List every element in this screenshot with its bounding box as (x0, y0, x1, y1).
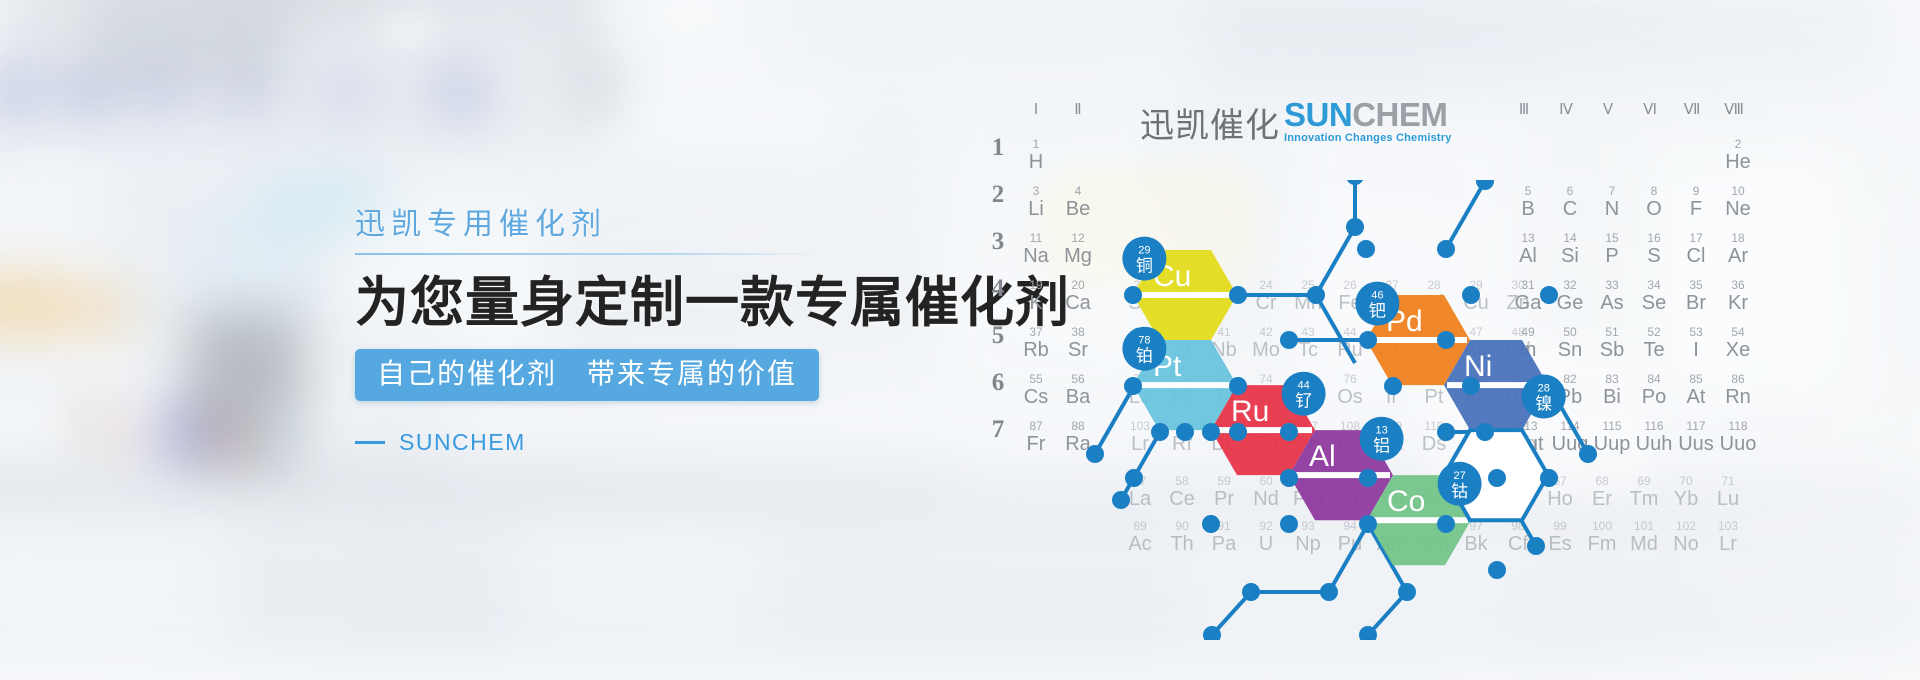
network-node[interactable] (1527, 537, 1545, 555)
logo-word-chem: CHEM (1352, 96, 1447, 133)
periodic-cell: 87Fr (1015, 420, 1057, 455)
element-symbol: F (1675, 198, 1717, 220)
periodic-cell: 36Kr (1717, 279, 1759, 314)
period-label: 7 (987, 416, 1009, 444)
network-node[interactable] (1437, 240, 1455, 258)
element-number: 69 (1623, 475, 1665, 488)
element-number: 85 (1675, 373, 1717, 386)
periodic-cell: 10Ne (1717, 185, 1759, 220)
periodic-cell: 34Se (1633, 279, 1675, 314)
hero-banner: 迅凯专用催化剂 为您量身定制一款专属催化剂 自己的催化剂 带来专属的价值 SUN… (0, 0, 1920, 680)
periodic-cell: 16S (1633, 232, 1675, 267)
element-number: 17 (1675, 232, 1717, 245)
tagline-wrapper: 自己的催化剂 带来专属的价值 (355, 349, 995, 401)
element-number: 86 (1717, 373, 1759, 386)
periodic-cell: 17Cl (1675, 232, 1717, 267)
periodic-cell: 2He (1717, 138, 1759, 173)
badge-number: 46 (1371, 290, 1383, 302)
element-symbol: Tm (1623, 488, 1665, 510)
tagline-badge: 自己的催化剂 带来专属的价值 (355, 349, 819, 401)
network-node[interactable] (1540, 286, 1558, 304)
network-node[interactable] (1488, 561, 1506, 579)
dash-icon (355, 441, 385, 444)
hero-eyebrow: 迅凯专用催化剂 (355, 205, 995, 253)
network-node[interactable] (1320, 583, 1338, 601)
period-label: 3 (987, 228, 1009, 256)
element-number: 54 (1717, 326, 1759, 339)
signature-label: SUNCHEM (399, 429, 526, 456)
period-label: 5 (987, 322, 1009, 350)
element-badge-ru[interactable]: 44钌 (1282, 372, 1326, 416)
periodic-cell: 116Uuh (1633, 420, 1675, 455)
element-symbol: Li (1015, 198, 1057, 220)
element-badge-pd[interactable]: 46钯 (1355, 282, 1399, 326)
network-node[interactable] (1476, 423, 1494, 441)
element-symbol: Ne (1717, 198, 1759, 220)
badge-chinese: 铂 (1136, 347, 1153, 367)
network-link (1212, 592, 1329, 635)
periodic-cell: 55Cs (1015, 373, 1057, 408)
badge-chinese: 镍 (1535, 395, 1552, 415)
element-symbol: I (1675, 339, 1717, 361)
element-number: 10 (1717, 185, 1759, 198)
signature: SUNCHEM (355, 429, 995, 456)
network-node[interactable] (1229, 286, 1247, 304)
element-number: 117 (1675, 420, 1717, 433)
badge-number: 13 (1375, 425, 1387, 437)
network-node[interactable] (1462, 286, 1480, 304)
network-node[interactable] (1280, 469, 1298, 487)
element-symbol: No (1665, 533, 1707, 555)
network-node[interactable] (1359, 331, 1377, 349)
logo-latin-lockup: SUNCHEM Innovation Changes Chemistry (1284, 98, 1452, 144)
network-node[interactable] (1346, 180, 1364, 185)
network-node[interactable] (1176, 423, 1194, 441)
group-label: Ⅰ (1019, 100, 1053, 119)
network-link (1095, 386, 1134, 454)
network-node[interactable] (1124, 286, 1142, 304)
network-link (1238, 180, 1355, 295)
element-symbol: Md (1623, 533, 1665, 555)
hexagon-network: CuPtRuPdNiAlCo 29铜78铂44钌46钯28镍13铝27钴 (1080, 180, 1600, 640)
periodic-cell: 19K (1015, 279, 1057, 314)
element-badge-ni[interactable]: 28镍 (1522, 375, 1566, 419)
network-link (1121, 432, 1160, 500)
network-node[interactable] (1398, 583, 1416, 601)
element-symbol: O (1633, 198, 1675, 220)
network-node[interactable] (1112, 491, 1130, 509)
element-number: 116 (1633, 420, 1675, 433)
element-number: 55 (1015, 373, 1057, 386)
badge-number: 29 (1138, 245, 1150, 257)
badge-chinese: 钯 (1369, 302, 1386, 322)
element-number: 101 (1623, 520, 1665, 533)
badge-number: 78 (1138, 335, 1150, 347)
periodic-cell: 71Lu (1707, 475, 1749, 510)
element-number: 9 (1675, 185, 1717, 198)
periodic-cell: 84Po (1633, 373, 1675, 408)
element-number: 34 (1633, 279, 1675, 292)
periodic-cell: 118Uuo (1717, 420, 1759, 455)
element-badge-cu[interactable]: 29铜 (1122, 237, 1166, 281)
periodic-cell: 9F (1675, 185, 1717, 220)
periodic-cell: 53I (1675, 326, 1717, 361)
periodic-cell: 86Rn (1717, 373, 1759, 408)
network-node[interactable] (1229, 423, 1247, 441)
element-badge-al[interactable]: 13铝 (1360, 417, 1404, 461)
element-symbol: Lu (1707, 488, 1749, 510)
network-node[interactable] (1359, 515, 1377, 533)
element-symbol: Kr (1717, 292, 1759, 314)
periodic-cell: 85At (1675, 373, 1717, 408)
periodic-cell: 1H (1015, 138, 1057, 173)
network-link (1329, 524, 1368, 592)
element-symbol: Br (1675, 292, 1717, 314)
hexagon-symbol: Al (1309, 440, 1336, 473)
element-number: 11 (1015, 232, 1057, 245)
periodic-cell: 52Te (1633, 326, 1675, 361)
element-number: 8 (1633, 185, 1675, 198)
element-symbol: Cs (1015, 386, 1057, 408)
periodic-cell: 70Yb (1665, 475, 1707, 510)
hexagon-symbol: Co (1387, 485, 1425, 518)
hexagon-divider (1136, 382, 1234, 388)
period-label: 6 (987, 369, 1009, 397)
element-number: 103 (1707, 520, 1749, 533)
element-symbol: Lr (1707, 533, 1749, 555)
network-node[interactable] (1280, 515, 1298, 533)
network-node[interactable] (1280, 331, 1298, 349)
badge-number: 28 (1538, 383, 1550, 395)
group-label: Ⅵ (1633, 100, 1667, 119)
network-node[interactable] (1359, 469, 1377, 487)
network-node[interactable] (1086, 445, 1104, 463)
element-symbol: Te (1633, 339, 1675, 361)
group-label: Ⅷ (1717, 100, 1751, 119)
group-label: Ⅲ (1507, 100, 1541, 119)
element-symbol: Cl (1675, 245, 1717, 267)
network-node[interactable] (1540, 469, 1558, 487)
element-symbol: Ar (1717, 245, 1759, 267)
network-node[interactable] (1202, 515, 1220, 533)
periodic-cell: 8O (1633, 185, 1675, 220)
element-number: 70 (1665, 475, 1707, 488)
element-number: 102 (1665, 520, 1707, 533)
element-number: 84 (1633, 373, 1675, 386)
network-node[interactable] (1151, 423, 1169, 441)
network-hexagons: CuPtRuPdNiAlCo (1133, 250, 1548, 565)
network-node[interactable] (1437, 331, 1455, 349)
element-symbol: Se (1633, 292, 1675, 314)
badge-chinese: 铜 (1136, 257, 1153, 277)
periodic-cell: 18Ar (1717, 232, 1759, 267)
page-title: 为您量身定制一款专属催化剂 (355, 271, 995, 335)
element-symbol: Rn (1717, 386, 1759, 408)
element-symbol: Uuo (1717, 433, 1759, 455)
period-label: 2 (987, 181, 1009, 209)
badge-chinese: 钴 (1451, 482, 1468, 502)
eyebrow-underline (355, 253, 821, 255)
element-symbol: S (1633, 245, 1675, 267)
network-node[interactable] (1229, 377, 1247, 395)
periodic-cell: 37Rb (1015, 326, 1057, 361)
network-node[interactable] (1124, 377, 1142, 395)
group-label: Ⅶ (1675, 100, 1709, 119)
element-symbol: He (1717, 151, 1759, 173)
element-number: 53 (1675, 326, 1717, 339)
element-symbol: Uuh (1633, 433, 1675, 455)
element-number: 3 (1015, 185, 1057, 198)
network-node[interactable] (1307, 286, 1325, 304)
badge-chinese: 铝 (1373, 437, 1390, 457)
group-label: Ⅴ (1591, 100, 1625, 119)
hero-copy: 迅凯专用催化剂 为您量身定制一款专属催化剂 自己的催化剂 带来专属的价值 SUN… (355, 205, 995, 456)
group-label: Ⅳ (1549, 100, 1583, 119)
network-node[interactable] (1384, 377, 1402, 395)
element-number: 37 (1015, 326, 1057, 339)
period-label: 1 (987, 134, 1009, 162)
period-label: 4 (987, 275, 1009, 303)
element-number: 16 (1633, 232, 1675, 245)
element-number: 19 (1015, 279, 1057, 292)
periodic-cell: 54Xe (1717, 326, 1759, 361)
network-node[interactable] (1202, 423, 1220, 441)
periodic-cell: 101Md (1623, 520, 1665, 555)
periodic-cell: 102No (1665, 520, 1707, 555)
element-number: 36 (1717, 279, 1759, 292)
element-symbol: H (1015, 151, 1057, 173)
element-symbol: Fr (1015, 433, 1057, 455)
element-symbol: Uus (1675, 433, 1717, 455)
network-node[interactable] (1488, 469, 1506, 487)
logo-slogan: Innovation Changes Chemistry (1284, 133, 1452, 144)
badge-number: 44 (1297, 380, 1309, 392)
periodic-cell: 69Tm (1623, 475, 1665, 510)
element-symbol: At (1675, 386, 1717, 408)
network-link (1316, 295, 1355, 363)
network-node[interactable] (1125, 469, 1143, 487)
element-number: 71 (1707, 475, 1749, 488)
network-node[interactable] (1346, 218, 1364, 236)
element-badge-co[interactable]: 27钴 (1438, 462, 1482, 506)
periodic-cell: 11Na (1015, 232, 1057, 267)
group-label: Ⅱ (1061, 100, 1095, 119)
element-number: 35 (1675, 279, 1717, 292)
badge-chinese: 钌 (1295, 392, 1312, 412)
element-symbol: K (1015, 292, 1057, 314)
element-symbol: Na (1015, 245, 1057, 267)
network-node[interactable] (1579, 445, 1597, 463)
network-node[interactable] (1280, 423, 1298, 441)
badge-number: 27 (1453, 470, 1465, 482)
periodic-cell: 103Lr (1707, 520, 1749, 555)
element-number: 18 (1717, 232, 1759, 245)
hexagon-network-svg: CuPtRuPdNiAlCo 29铜78铂44钌46钯28镍13铝27钴 (1080, 180, 1600, 640)
element-number: 118 (1717, 420, 1759, 433)
logo-chinese-name: 迅凯催化 (1140, 108, 1280, 144)
element-symbol: Yb (1665, 488, 1707, 510)
network-node[interactable] (1357, 240, 1375, 258)
logo-word-sun: SUN (1284, 96, 1352, 133)
element-symbol: Xe (1717, 339, 1759, 361)
element-badge-pt[interactable]: 78铂 (1122, 327, 1166, 371)
network-link (1446, 181, 1485, 249)
element-number: 52 (1633, 326, 1675, 339)
periodic-cell: 3Li (1015, 185, 1057, 220)
brand-logo[interactable]: 迅凯催化 SUNCHEM Innovation Changes Chemistr… (1140, 98, 1452, 144)
network-node[interactable] (1462, 377, 1480, 395)
network-node[interactable] (1242, 583, 1260, 601)
element-symbol: Po (1633, 386, 1675, 408)
element-number: 1 (1015, 138, 1057, 151)
periodic-cell: 117Uus (1675, 420, 1717, 455)
network-node[interactable] (1437, 423, 1455, 441)
element-symbol: Rb (1015, 339, 1057, 361)
element-number: 87 (1015, 420, 1057, 433)
periodic-cell: 35Br (1675, 279, 1717, 314)
element-number: 2 (1717, 138, 1759, 151)
network-node[interactable] (1437, 515, 1455, 533)
